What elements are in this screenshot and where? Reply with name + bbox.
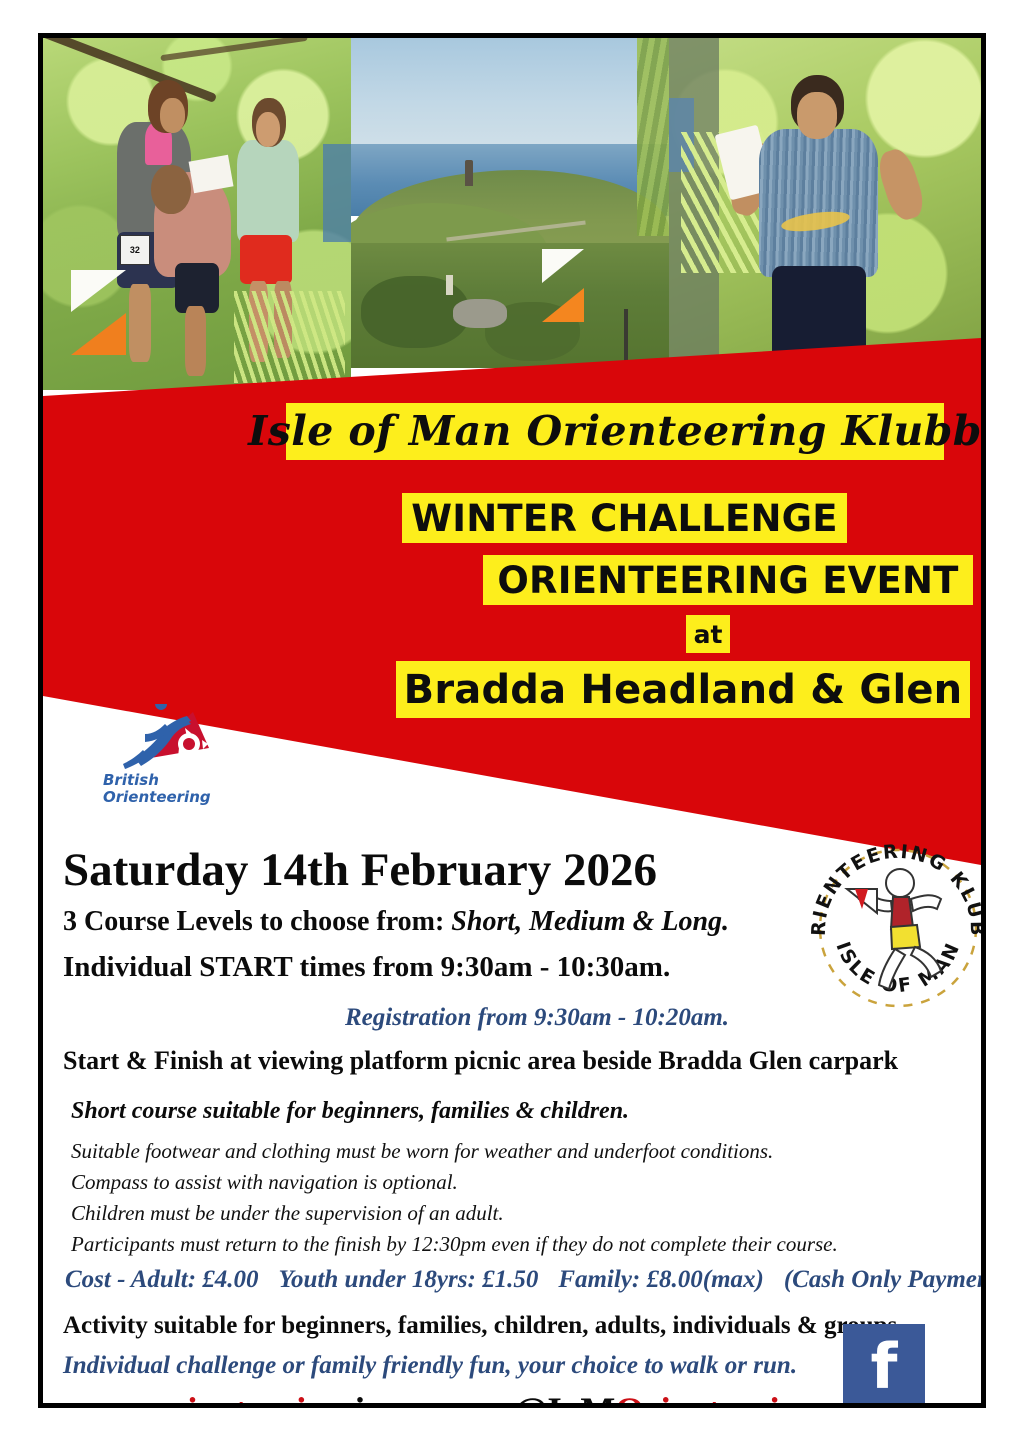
event-poster: Isle of Man Orienteering Klubb WINTER CH… (38, 33, 986, 1408)
photo-woodland-family (43, 38, 351, 390)
stone-marker-post (446, 275, 453, 295)
girl-face (256, 112, 281, 147)
milners-tower (465, 160, 473, 186)
bending-child-leg (185, 306, 207, 376)
sky (351, 38, 669, 147)
bo-label-line1: British (103, 771, 159, 789)
cost-adult: Cost - Adult: £4.00 (65, 1266, 259, 1293)
course-levels: 3 Course Levels to choose from: Short, M… (63, 906, 729, 938)
rule-compass: Compass to assist with navigation is opt… (71, 1170, 458, 1195)
short-course-note: Short course suitable for beginners, fam… (71, 1098, 629, 1125)
rule-footwear: Suitable footwear and clothing must be w… (71, 1139, 773, 1164)
handle-prefix: @IoM (513, 1391, 615, 1408)
rule-return-time: Participants must return to the finish b… (71, 1232, 838, 1257)
cost-family: Family: £8.00(max) (558, 1266, 764, 1293)
fern-foliage (234, 291, 345, 383)
control-flag-icon (71, 270, 142, 354)
bo-label-line2: Orienteering (103, 788, 211, 806)
venue-title: Bradda Headland & Glen (396, 661, 970, 718)
website-tld: .iom (346, 1391, 415, 1408)
event-line-1: WINTER CHALLENGE (402, 493, 847, 543)
right-edge-foliage (637, 38, 669, 236)
photo-boy-running (669, 38, 981, 374)
girl-hoodie (237, 140, 299, 242)
facebook-icon[interactable]: f (843, 1324, 925, 1406)
start-finish-location: Start & Finish at viewing platform picni… (63, 1046, 898, 1076)
website-domain: orienteering (152, 1391, 345, 1408)
at-label: at (686, 615, 730, 653)
photo-bradda-headland (351, 38, 669, 368)
british-orienteering-label: British Orienteering (103, 772, 211, 806)
orienteering-map (188, 154, 233, 192)
rule-supervision: Children must be under the supervision o… (71, 1201, 504, 1226)
cost-youth: Youth under 18yrs: £1.50 (279, 1266, 539, 1293)
bending-child-head (151, 165, 191, 214)
website-url[interactable]: www.orienteering.iom (65, 1390, 414, 1408)
boy-shirt (759, 129, 878, 277)
cost-line: Cost - Adult: £4.00Youth under 18yrs: £1… (65, 1266, 986, 1294)
course-levels-prefix: 3 Course Levels to choose from: (63, 906, 451, 937)
race-bib-number (120, 235, 150, 265)
website-prefix: www. (65, 1391, 152, 1408)
sea-sliver (323, 144, 351, 243)
rock-outcrop (453, 299, 507, 329)
photo-strip (43, 38, 981, 390)
course-levels-value: Short, Medium & Long. (451, 906, 729, 937)
control-flag-icon (542, 249, 625, 322)
facebook-f-glyph: f (871, 1336, 898, 1398)
event-details: Saturday 14th February 2026 3 Course Lev… (43, 834, 981, 1408)
tagline: Individual challenge or family friendly … (63, 1352, 797, 1380)
activity-suitability: Activity suitable for beginners, familie… (63, 1312, 897, 1340)
club-title: Isle of Man Orienteering Klubb (286, 403, 944, 460)
cost-payment-note: (Cash Only Payment) (784, 1266, 986, 1293)
girl-red-shorts (240, 235, 292, 284)
british-orienteering-mark (101, 704, 261, 774)
adult-face (160, 98, 185, 133)
event-line-2: ORIENTEERING EVENT (483, 555, 973, 605)
handle-suffix: Orienteering (615, 1391, 818, 1408)
boy-face (797, 92, 838, 139)
start-times: Individual START times from 9:30am - 10:… (63, 951, 670, 984)
registration-times: Registration from 9:30am - 10:20am. (345, 1004, 729, 1032)
event-date: Saturday 14th February 2026 (63, 843, 657, 897)
british-orienteering-logo: British Orienteering (101, 704, 261, 819)
social-handle[interactable]: @IoMOrienteering (513, 1390, 819, 1408)
